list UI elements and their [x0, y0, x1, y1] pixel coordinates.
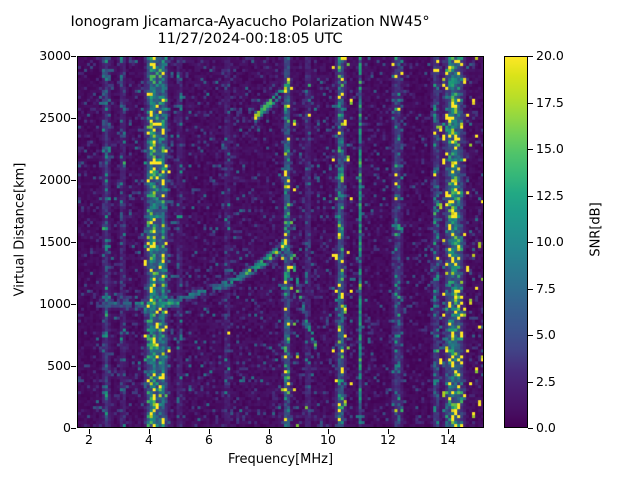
- ionogram-figure: Ionogram Jicamarca-Ayacucho Polarization…: [0, 0, 640, 480]
- colorbar-tick-mark: [528, 428, 533, 429]
- y-tick-label: 3000: [31, 50, 71, 62]
- x-tick-label: 8: [249, 434, 289, 446]
- y-tick-label: 500: [31, 360, 71, 372]
- y-tick-mark: [71, 428, 76, 429]
- colorbar-tick-label: 2.5: [536, 376, 580, 388]
- x-tick-label: 2: [69, 434, 109, 446]
- y-tick-mark: [71, 242, 76, 243]
- x-tick-label: 6: [189, 434, 229, 446]
- colorbar-tick-label: 5.0: [536, 329, 580, 341]
- colorbar-tick-mark: [528, 382, 533, 383]
- y-tick-mark: [71, 304, 76, 305]
- y-tick-mark: [71, 180, 76, 181]
- colorbar-tick-label: 17.5: [536, 97, 580, 109]
- colorbar-tick-label: 15.0: [536, 143, 580, 155]
- x-tick-label: 10: [308, 434, 348, 446]
- chart-title-line1: Ionogram Jicamarca-Ayacucho Polarization…: [71, 14, 430, 30]
- colorbar-title: SNR[dB]: [589, 130, 604, 330]
- y-tick-label: 1000: [31, 298, 71, 310]
- colorbar-tick-label: 7.5: [536, 283, 580, 295]
- y-tick-mark: [71, 56, 76, 57]
- colorbar-tick-mark: [528, 149, 533, 150]
- colorbar: [504, 56, 528, 428]
- y-tick-mark: [71, 118, 76, 119]
- y-tick-label: 0: [31, 422, 71, 434]
- y-tick-label: 2500: [31, 112, 71, 124]
- y-axis-title: Virtual Distance[km]: [13, 130, 28, 330]
- colorbar-tick-label: 12.5: [536, 190, 580, 202]
- x-axis-title: Frequency[MHz]: [77, 452, 484, 467]
- colorbar-tick-mark: [528, 196, 533, 197]
- colorbar-tick-mark: [528, 289, 533, 290]
- ionogram-heatmap: [78, 57, 483, 427]
- y-tick-label: 2000: [31, 174, 71, 186]
- colorbar-gradient: [505, 57, 527, 427]
- colorbar-tick-label: 0.0: [536, 422, 580, 434]
- colorbar-tick-label: 10.0: [536, 236, 580, 248]
- chart-title: Ionogram Jicamarca-Ayacucho Polarization…: [0, 14, 500, 48]
- plot-area: [77, 56, 484, 428]
- y-tick-mark: [71, 366, 76, 367]
- colorbar-tick-mark: [528, 242, 533, 243]
- y-tick-label: 1500: [31, 236, 71, 248]
- colorbar-tick-mark: [528, 56, 533, 57]
- x-tick-label: 4: [129, 434, 169, 446]
- colorbar-tick-label: 20.0: [536, 50, 580, 62]
- colorbar-tick-mark: [528, 335, 533, 336]
- x-tick-label: 12: [368, 434, 408, 446]
- chart-title-line2: 11/27/2024-00:18:05 UTC: [0, 31, 500, 48]
- colorbar-tick-mark: [528, 103, 533, 104]
- x-tick-label: 14: [428, 434, 468, 446]
